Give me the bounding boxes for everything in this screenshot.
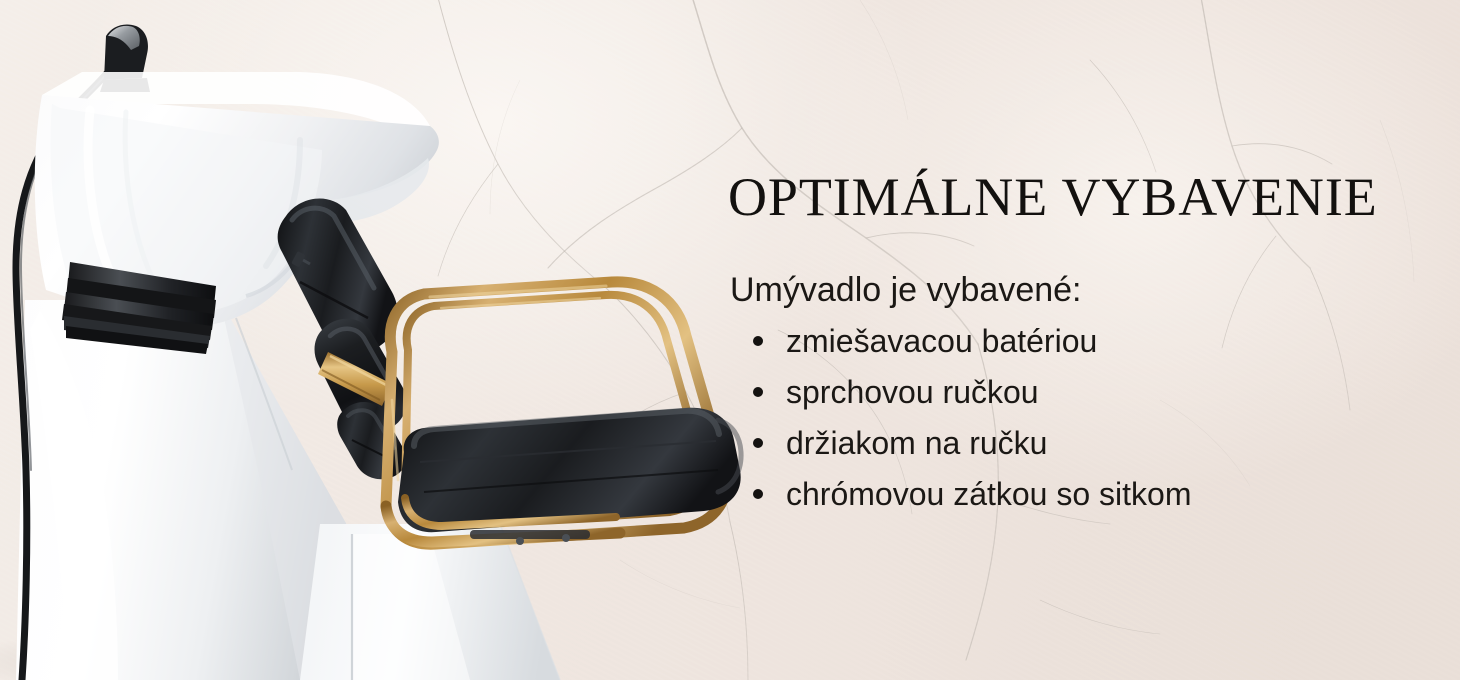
copy-block: OPTIMÁLNE VYBAVENIE Umývadlo je vybavené… — [728, 168, 1428, 510]
list-item: chrómovou zátkou so sitkom — [728, 478, 1428, 510]
feature-label: zmiešavacou batériou — [786, 323, 1097, 359]
promo-banner: OPTIMÁLNE VYBAVENIE Umývadlo je vybavené… — [0, 0, 1460, 680]
list-item: zmiešavacou batériou — [728, 325, 1428, 357]
feature-label: sprchovou ručkou — [786, 374, 1039, 410]
page-title: OPTIMÁLNE VYBAVENIE — [728, 168, 1428, 226]
feature-label: chrómovou zátkou so sitkom — [786, 476, 1192, 512]
bullet-icon — [753, 336, 763, 346]
lead-text: Umývadlo je vybavené: — [730, 270, 1428, 311]
product-image-washbasin — [0, 0, 780, 680]
list-item: držiakom na ručku — [728, 427, 1428, 459]
feature-list: zmiešavacou batériou sprchovou ručkou dr… — [728, 325, 1428, 510]
feature-label: držiakom na ručku — [786, 425, 1047, 461]
bullet-icon — [753, 438, 763, 448]
bullet-icon — [753, 387, 763, 397]
list-item: sprchovou ručkou — [728, 376, 1428, 408]
bullet-icon — [753, 489, 763, 499]
